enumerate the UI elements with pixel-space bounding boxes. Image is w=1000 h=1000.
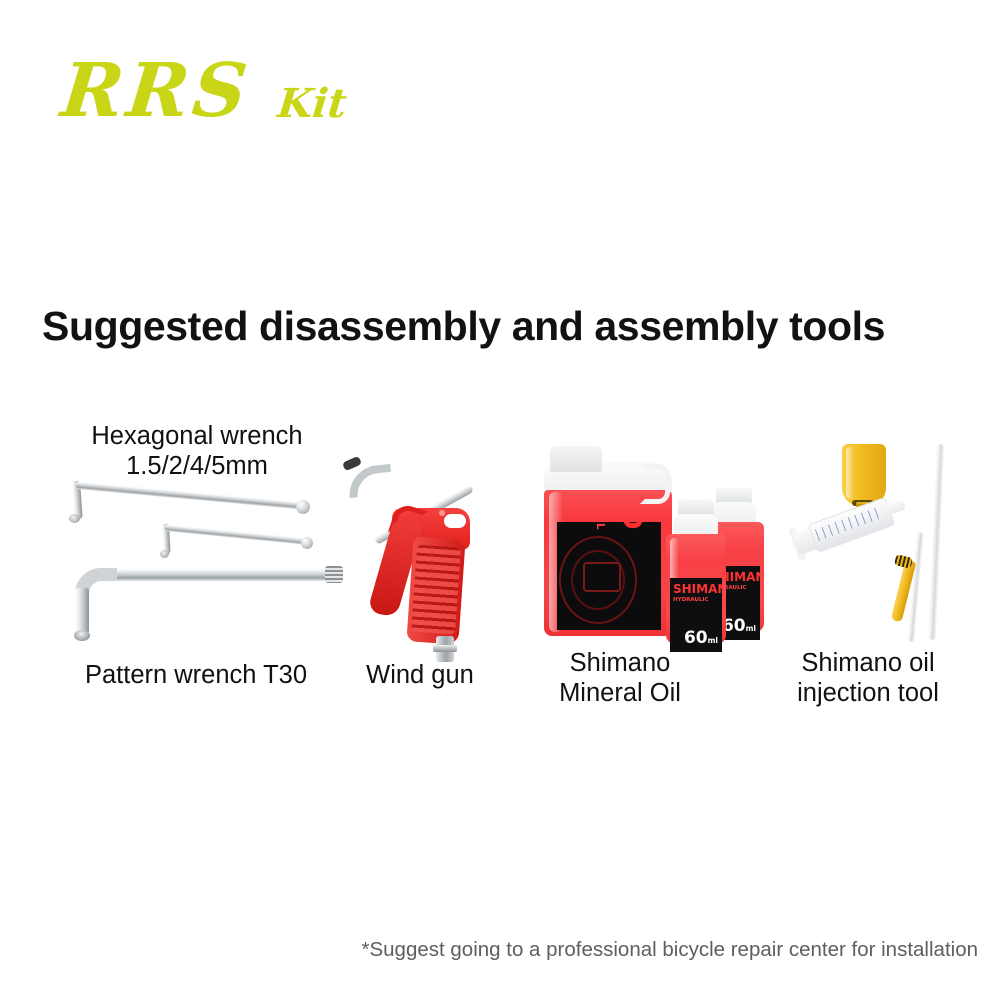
oil-bottle-front-volume: 60ml: [684, 628, 718, 648]
pattern-wrench-t30-image: [69, 566, 339, 638]
wind-gun-stud: [439, 510, 445, 516]
wind-gun-nozzle-curve: [347, 464, 394, 498]
shimano-oil-injection-tool-caption: Shimano oil injection tool: [748, 648, 988, 708]
oil-jug-sub-line2: MINERAL OIL: [594, 522, 606, 530]
syringe-tip: [884, 499, 907, 516]
brand-logo-name: RRS: [58, 54, 254, 128]
hex-key-short: [151, 522, 311, 564]
wind-gun-caption: Wind gun: [330, 660, 510, 690]
oil-jug-neck-cap: [550, 446, 602, 472]
brake-caliper-graphic-icon: [583, 562, 621, 592]
torx-leg: [75, 588, 89, 634]
oil-bottle-front-sub1: HYDRAULIC: [673, 597, 709, 604]
hex-key-short-tip: [160, 550, 169, 558]
shimano-mineral-oil-image: SHIMANO HYDRAULIC 60ml SHIMANO HYDRAULIC…: [540, 440, 770, 640]
page-title: Suggested disassembly and assembly tools: [42, 303, 885, 350]
pattern-wrench-caption: Pattern wrench T30: [36, 660, 356, 690]
syringe-barrel: [808, 497, 895, 553]
injection-plug-tool-head: [894, 554, 913, 569]
torx-socket-end: [74, 630, 90, 641]
oil-bottle-front-brand: SHIMANO: [673, 582, 722, 596]
hexagonal-wrench-image: [55, 470, 345, 650]
oil-bottle-front-volume-unit: ml: [708, 636, 718, 645]
brand-logo: RRS Kit: [62, 52, 392, 142]
hex-key-short-arm: [165, 524, 309, 545]
brand-logo-suffix: Kit: [276, 84, 349, 124]
oil-jug-brand-text: SHIMANO: [617, 522, 647, 530]
oil-bottle-front: SHIMANO HYDRAULIC 60ml: [666, 500, 726, 646]
shimano-oil-injection-tool-image: [790, 440, 970, 640]
oil-jug: SHIMANO HYDRAULICMINERAL OIL: [544, 446, 672, 636]
hex-key-short-ball-end-icon: [301, 537, 313, 549]
wind-gun-air-fitting: [436, 636, 454, 662]
hex-key-long-ball-end-icon: [296, 500, 310, 514]
oil-bottle-front-volume-number: 60: [684, 628, 708, 648]
oil-bottle-back-volume-unit: ml: [746, 624, 756, 633]
oil-jug-handle: [640, 464, 670, 504]
oil-bottle-front-label: SHIMANO HYDRAULIC 60ml: [670, 578, 722, 652]
oil-bottle-back-volume: 60ml: [722, 616, 756, 636]
oil-jug-label: SHIMANO HYDRAULICMINERAL OIL: [557, 522, 661, 630]
hex-key-long-arm: [76, 481, 304, 510]
shimano-mineral-oil-caption: Shimano Mineral Oil: [510, 648, 730, 708]
injection-tube-long: [928, 444, 945, 640]
oil-bottle-front-body: SHIMANO HYDRAULIC 60ml: [666, 534, 726, 644]
wind-gun-grip: [406, 536, 465, 644]
installation-note: *Suggest going to a professional bicycle…: [0, 938, 978, 962]
oil-jug-sub-text: HYDRAULICMINERAL OIL: [594, 522, 618, 530]
hex-key-long-tip: [69, 514, 80, 523]
torx-arm: [111, 568, 337, 581]
wind-gun-nozzle-tip: [342, 456, 362, 472]
wind-gun-image: [340, 450, 515, 650]
wind-gun-hanger-hole: [444, 514, 466, 528]
hex-key-long: [58, 478, 308, 528]
